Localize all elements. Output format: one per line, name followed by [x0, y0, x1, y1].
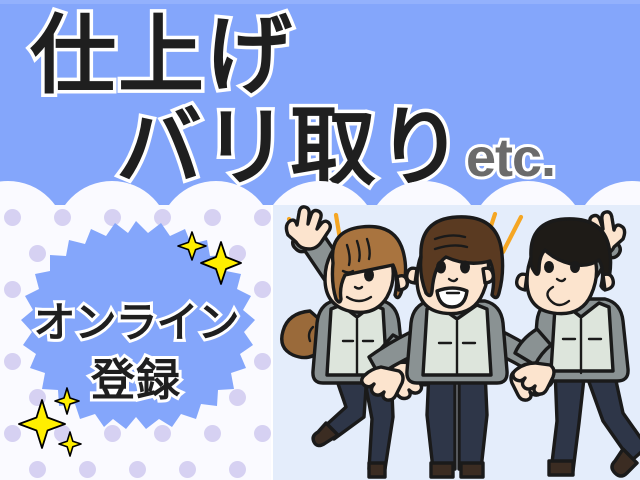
sparkle-icon-small-bottom-b	[58, 431, 82, 457]
eye-left	[436, 261, 446, 274]
scalloped-edge	[0, 179, 640, 205]
sparkle-icon-small-bottom-a	[54, 387, 80, 415]
scallop-arc	[0, 181, 66, 205]
scallop-arc	[262, 181, 378, 205]
scallop-arc	[366, 181, 482, 205]
scallop-arc	[54, 181, 170, 205]
scallop-arc	[470, 181, 586, 205]
sparkle-icon-large-top	[200, 241, 242, 285]
panel-divider	[271, 205, 273, 480]
scallop-arc	[158, 181, 274, 205]
eye-right	[570, 261, 580, 273]
headline-text-group: 仕上げ バリ取り etc.	[0, 0, 640, 205]
people-illustration: .ol { stroke:#1a1a1a; stroke-width:3.4; …	[271, 205, 640, 480]
eye-right	[460, 261, 470, 274]
online-registration-badge[interactable]: オンライン 登録	[14, 219, 258, 469]
person-man-right	[513, 212, 640, 476]
scallop-arc	[574, 181, 640, 205]
headline-banner: 仕上げ バリ取り etc.	[0, 0, 640, 205]
headline-line-1: 仕上げ	[30, 6, 294, 106]
polka-dot-panel: オンライン 登録	[0, 205, 271, 480]
advertisement-banner: 仕上げ バリ取り etc.	[0, 0, 640, 480]
eye	[364, 269, 374, 282]
eye-left	[544, 261, 554, 273]
